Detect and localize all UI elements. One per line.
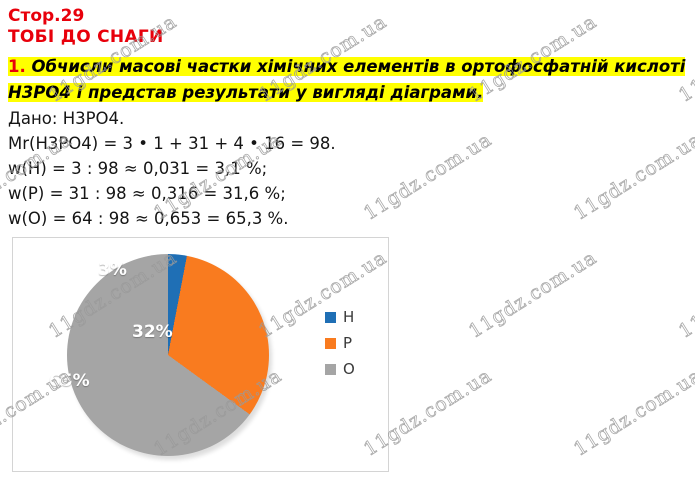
- task-text-line-1: Обчисли масові частки хімічних елементів…: [32, 57, 686, 76]
- legend-item-h: H: [325, 304, 385, 330]
- watermark-text: 11gdz.com.ua: [675, 246, 695, 342]
- watermark-text: 11gdz.com.ua: [570, 364, 695, 460]
- task-line-2: H3PO4 і представ результати у вигляді ді…: [8, 80, 690, 106]
- legend-swatch-o-icon: [325, 364, 336, 375]
- section-title: ТОБІ ДО СНАГИ: [8, 27, 164, 47]
- task-text-line-2: H3PO4 і представ результати у вигляді ді…: [8, 83, 483, 102]
- legend-item-p: P: [325, 330, 385, 356]
- solution-line-w-h: w(H) = 3 : 98 ≈ 0,031 = 3,1 %;: [8, 156, 336, 181]
- pie-slices: [67, 254, 269, 456]
- solution-line-w-p: w(P) = 31 : 98 ≈ 0,316 = 31,6 %;: [8, 181, 336, 206]
- task-statement: 1. Обчисли масові частки хімічних елемен…: [8, 54, 690, 106]
- legend-label-h: H: [343, 308, 354, 326]
- task-line-1: 1. Обчисли масові частки хімічних елемен…: [8, 54, 690, 80]
- chart-legend: H P O: [325, 304, 385, 382]
- page-reference: Стор.29: [8, 6, 84, 26]
- watermark-text: 11gdz.com.ua: [570, 128, 695, 224]
- solution-steps: Дано: H3PO4. Mr(H3PO4) = 3 • 1 + 31 + 4 …: [8, 106, 336, 231]
- task-number: 1.: [8, 57, 26, 76]
- solution-line-given: Дано: H3PO4.: [8, 106, 336, 131]
- legend-swatch-p-icon: [325, 338, 336, 349]
- pie-chart-container: 3% 32% 65% H P O: [12, 237, 389, 472]
- pie-chart: [67, 254, 269, 456]
- pie-label-p: 32%: [132, 322, 173, 342]
- pie-label-o: 65%: [49, 371, 90, 391]
- solution-line-mr: Mr(H3PO4) = 3 • 1 + 31 + 4 • 16 = 98.: [8, 131, 336, 156]
- legend-label-p: P: [343, 334, 352, 352]
- watermark-text: 11gdz.com.ua: [360, 128, 496, 224]
- legend-swatch-h-icon: [325, 312, 336, 323]
- legend-label-o: O: [343, 360, 355, 378]
- pie-label-h: 3%: [98, 260, 127, 280]
- legend-item-o: O: [325, 356, 385, 382]
- watermark-text: 11gdz.com.ua: [465, 246, 601, 342]
- solution-line-w-o: w(O) = 64 : 98 ≈ 0,653 = 65,3 %.: [8, 206, 336, 231]
